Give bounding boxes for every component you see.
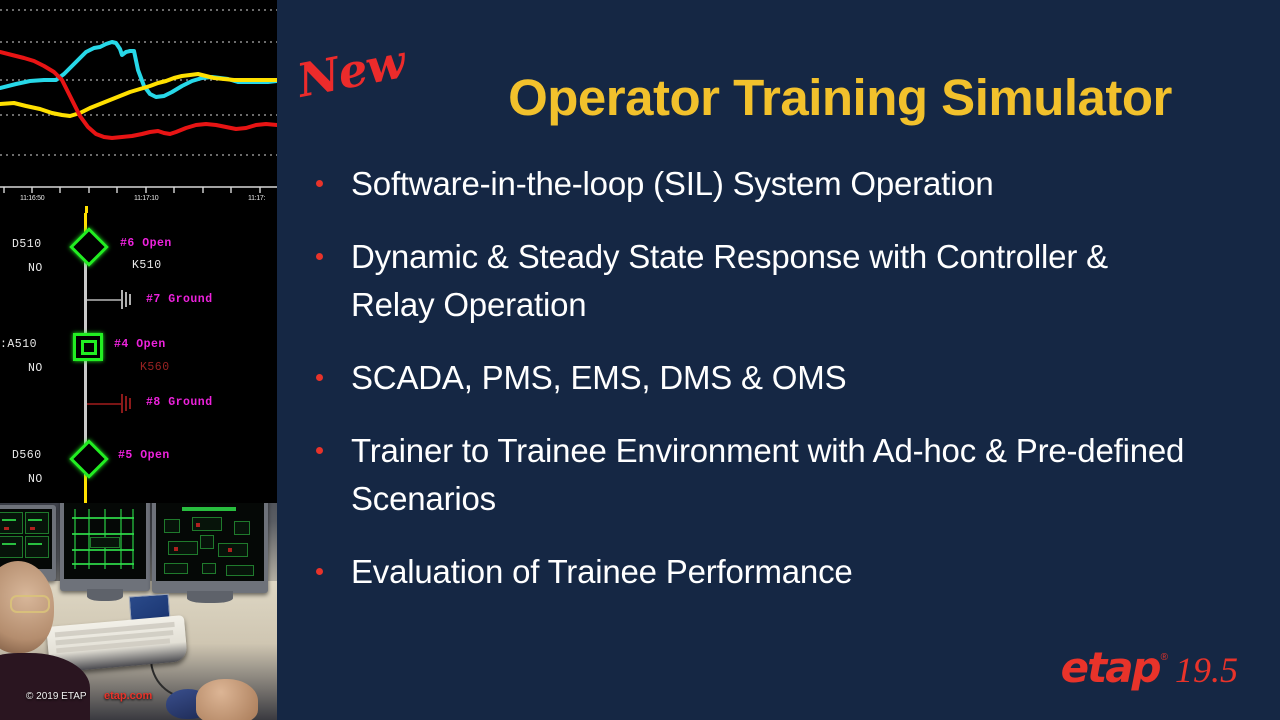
breaker-a510[interactable]: [73, 333, 103, 361]
operator-hand: [196, 679, 258, 720]
switch-d560[interactable]: [69, 439, 109, 479]
bullet-dot-icon: [316, 568, 323, 575]
bullet-text: Evaluation of Trainee Performance: [351, 548, 1231, 596]
version-number: 19.5: [1175, 649, 1238, 691]
registered-trademark-icon: ®: [1161, 652, 1168, 663]
state-d510: NO: [28, 262, 43, 275]
monitor-right: [152, 503, 268, 593]
label-a510: :A510: [0, 338, 37, 351]
presentation-slide: 11:16:50 11:17:10 11:17: D510 NO #6 Open…: [0, 0, 1280, 720]
list-item: Evaluation of Trainee Performance: [316, 548, 1256, 596]
trend-chart-plot: [0, 0, 277, 186]
status-k510: #7 Ground: [146, 293, 213, 306]
trend-chart-axis: 11:16:50 11:17:10 11:17:: [0, 186, 277, 213]
status-k560: #8 Ground: [146, 396, 213, 409]
trend-cursor-marker[interactable]: [85, 206, 88, 213]
bullet-dot-icon: [316, 374, 323, 381]
control-room-photo: © 2019 ETAP etap.com: [0, 503, 277, 720]
state-d560: NO: [28, 473, 43, 486]
bullet-dot-icon: [316, 447, 323, 454]
bullet-dot-icon: [316, 180, 323, 187]
status-d510: #6 Open: [120, 237, 172, 250]
etap-logo: etap ® 19.5: [1061, 643, 1238, 692]
bullet-text: Trainer to Trainee Environment with Ad-h…: [351, 427, 1231, 523]
list-item: SCADA, PMS, EMS, DMS & OMS: [316, 354, 1256, 402]
trend-tick-label: 11:17:: [248, 195, 265, 202]
trend-tick-label: 11:16:50: [20, 195, 44, 202]
oneline-diagram: D510 NO #6 Open K510 #7 Ground :A510 NO …: [0, 213, 277, 503]
trend-tick-labels: 11:16:50 11:17:10 11:17:: [0, 195, 277, 209]
etap-wordmark: etap: [1061, 643, 1160, 692]
bullet-text: Dynamic & Steady State Response with Con…: [351, 233, 1111, 329]
left-image-collage: 11:16:50 11:17:10 11:17: D510 NO #6 Open…: [0, 0, 277, 720]
trend-tick-label: 11:17:10: [134, 195, 158, 202]
bullet-text: Software-in-the-loop (SIL) System Operat…: [351, 160, 1231, 208]
glasses: [10, 595, 50, 613]
etap-website-link[interactable]: etap.com: [104, 690, 152, 702]
page-title: Operator Training Simulator: [440, 64, 1240, 132]
bus-energized-bottom: [84, 475, 87, 503]
monitor-center: [60, 503, 150, 591]
list-item: Software-in-the-loop (SIL) System Operat…: [316, 160, 1256, 208]
bullet-text: SCADA, PMS, EMS, DMS & OMS: [351, 354, 1231, 402]
switch-d510[interactable]: [69, 227, 109, 267]
status-a510: #4 Open: [114, 338, 166, 351]
label-d560: D560: [12, 449, 42, 462]
label-k510: K510: [132, 259, 162, 272]
list-item: Dynamic & Steady State Response with Con…: [316, 233, 1256, 329]
list-item: Trainer to Trainee Environment with Ad-h…: [316, 427, 1256, 523]
label-d510: D510: [12, 238, 42, 251]
bullet-dot-icon: [316, 253, 323, 260]
bullet-list: Software-in-the-loop (SIL) System Operat…: [316, 160, 1256, 621]
status-d560: #5 Open: [118, 449, 170, 462]
copyright-notice: © 2019 ETAP: [26, 691, 87, 702]
trend-chart: 11:16:50 11:17:10 11:17:: [0, 0, 277, 213]
new-badge: New: [287, 27, 415, 114]
label-k560: K560: [140, 361, 170, 374]
state-a510: NO: [28, 362, 43, 375]
